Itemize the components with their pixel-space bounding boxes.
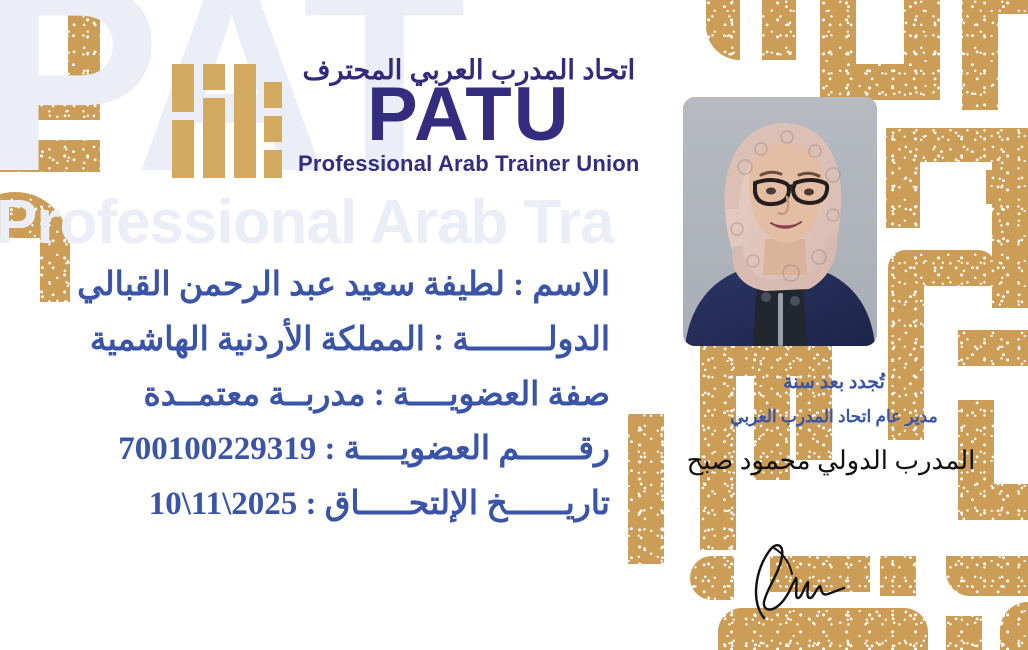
logo-bar (264, 82, 282, 108)
watermark-subtitle: Professional Arab Tra (0, 196, 682, 249)
patu-bars-logomark-icon (172, 56, 282, 179)
member-photo (683, 97, 877, 346)
bg-shape (1000, 602, 1028, 650)
logo-bar (234, 64, 256, 178)
bg-shape (762, 0, 796, 60)
logo-bar (203, 64, 225, 90)
field-membership-type: صفة العضويــــة : مدربــة معتمــدة (0, 368, 610, 423)
field-name: الاسم : لطيفة سعيد عبد الرحمن القبالي (0, 258, 610, 313)
member-photo-image (683, 97, 877, 346)
logo-bar (203, 98, 225, 178)
patu-logo: اتحاد المدرب العربي المحترف PATU Profess… (172, 56, 640, 179)
bg-shape (706, 0, 740, 60)
signature-stroke-icon (744, 540, 864, 620)
bg-shape (962, 0, 1028, 14)
bg-shape (904, 0, 940, 100)
patu-logo-text: اتحاد المدرب العربي المحترف PATU Profess… (298, 56, 640, 179)
bg-shape (992, 128, 1028, 308)
membership-card: PAT Professional Arab Tra اتحاد المدرب ا… (0, 0, 1028, 650)
card-fields: الاسم : لطيفة سعيد عبد الرحمن القبالي ال… (0, 258, 624, 532)
logo-acronym: PATU (367, 82, 571, 149)
logo-bar (172, 120, 194, 178)
field-membership-number: رقــــــم العضويــــة : 700100229319 (0, 422, 610, 477)
bg-shape (958, 484, 1028, 520)
bg-shape (986, 170, 1028, 204)
director-title: مدير عام اتحاد المدرب العربي (640, 407, 1028, 427)
bg-shape (690, 556, 734, 600)
logo-bar (172, 64, 194, 112)
logo-bar (264, 150, 282, 178)
bg-shape (886, 128, 920, 228)
bg-shape (888, 250, 996, 286)
bg-shape (946, 616, 982, 650)
bg-shape (880, 556, 916, 596)
signatory-name: المدرب الدولي محمود صبح (640, 447, 1028, 476)
logo-bar (264, 116, 282, 142)
logo-english-title: Professional Arab Trainer Union (298, 151, 640, 177)
field-country: الدولــــــــة : المملكة الأردنية الهاشم… (0, 313, 610, 368)
bg-shape (962, 0, 998, 110)
renewal-note: تُجدد بعد سنة (640, 372, 1028, 395)
handwritten-signature (744, 540, 864, 620)
bg-shape (958, 330, 1028, 366)
field-join-date: تاريــــــخ الإلتحـــــاق : 2025\11\10 (0, 477, 610, 532)
bg-shape (946, 556, 1028, 596)
signatory-block: تُجدد بعد سنة مدير عام اتحاد المدرب العر… (640, 372, 1028, 476)
